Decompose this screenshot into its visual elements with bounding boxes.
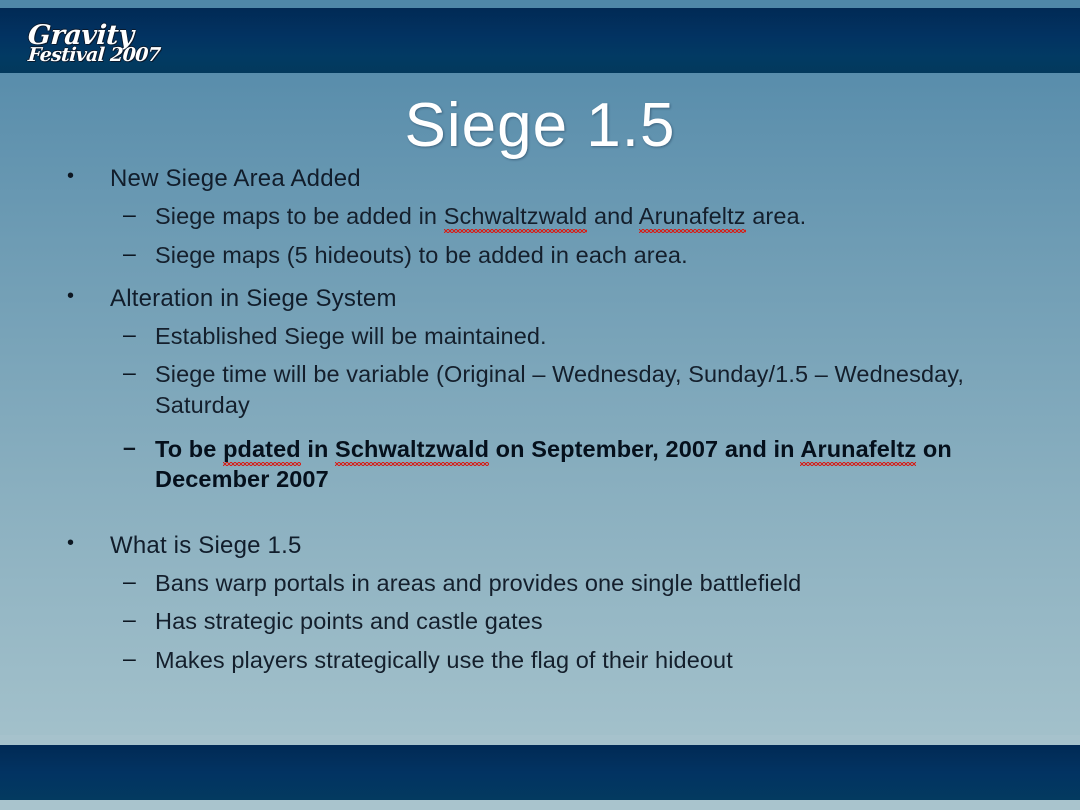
bullet-level2: – Siege time will be variable (Original … (55, 359, 1035, 420)
bullet-dash-icon: – (123, 433, 136, 463)
bullet-text-part: on September, 2007 and in (489, 436, 800, 462)
bullet-text: Makes players strategically use the flag… (155, 647, 733, 673)
footer-accent-strip-top (0, 735, 1080, 745)
bullet-text: Has strategic points and castle gates (155, 608, 543, 634)
bullet-text: New Siege Area Added (110, 165, 361, 192)
bullet-dash-icon: – (123, 358, 136, 388)
bullet-dot-icon: • (67, 531, 74, 555)
section-spacer (55, 495, 1035, 517)
bullet-level2: – Siege maps to be added in Schwaltzwald… (55, 201, 1035, 231)
presentation-slide: Gravity Festival 2007 Siege 1.5 • New Si… (0, 0, 1080, 810)
misspelled-word: pdated (223, 436, 301, 462)
bullet-text-part: and (587, 203, 638, 229)
bullet-level1: • Alteration in Siege System (55, 284, 1035, 313)
bullet-level2: – Siege maps (5 hideouts) to be added in… (55, 240, 1035, 270)
misspelled-word: Arunafeltz (800, 436, 916, 462)
bullet-dash-icon: – (123, 320, 136, 350)
footer-accent-strip-bottom (0, 800, 1080, 810)
bullet-level2: – Established Siege will be maintained. (55, 321, 1035, 351)
bullet-dot-icon: • (67, 284, 74, 308)
bullet-level1: • New Siege Area Added (55, 164, 1035, 193)
top-accent-strip (0, 0, 1080, 8)
bullet-dash-icon: – (123, 605, 136, 635)
bullet-text-part: area. (746, 203, 807, 229)
misspelled-word: Schwaltzwald (444, 203, 588, 229)
bullet-text: Alteration in Siege System (110, 285, 397, 312)
bullet-dot-icon: • (67, 164, 74, 188)
bullet-dash-icon: – (123, 567, 136, 597)
bullet-level1: • What is Siege 1.5 (55, 531, 1035, 560)
bullet-level2: – Bans warp portals in areas and provide… (55, 568, 1035, 598)
bullet-text-part: Siege maps to be added in (155, 203, 444, 229)
bullet-dash-icon: – (123, 200, 136, 230)
gravity-festival-logo: Gravity Festival 2007 (28, 22, 178, 70)
bullet-text: Siege time will be variable (Original – … (155, 361, 964, 417)
bullet-text: Established Siege will be maintained. (155, 323, 547, 349)
bullet-text: Siege maps (5 hideouts) to be added in e… (155, 242, 688, 268)
misspelled-word: Schwaltzwald (335, 436, 489, 462)
bullet-dash-icon: – (123, 239, 136, 269)
page-title: Siege 1.5 (0, 90, 1080, 161)
logo-line-2: Festival 2007 (27, 46, 178, 65)
bullet-text: Bans warp portals in areas and provides … (155, 570, 801, 596)
bullet-level2: – Makes players strategically use the fl… (55, 645, 1035, 675)
bullet-text-part: To be (155, 436, 223, 462)
bullet-text-part: in (301, 436, 335, 462)
bullet-level2: – To be pdated in Schwaltzwald on Septem… (55, 434, 1035, 495)
header-bar: Gravity Festival 2007 (0, 8, 1080, 73)
bullet-level2: – Has strategic points and castle gates (55, 606, 1035, 636)
footer-bar: – 05 – (0, 745, 1080, 800)
slide-body: • New Siege Area Added – Siege maps to b… (55, 164, 1035, 675)
bullet-text: What is Siege 1.5 (110, 532, 302, 559)
bullet-dash-icon: – (123, 644, 136, 674)
misspelled-word: Arunafeltz (639, 203, 746, 229)
